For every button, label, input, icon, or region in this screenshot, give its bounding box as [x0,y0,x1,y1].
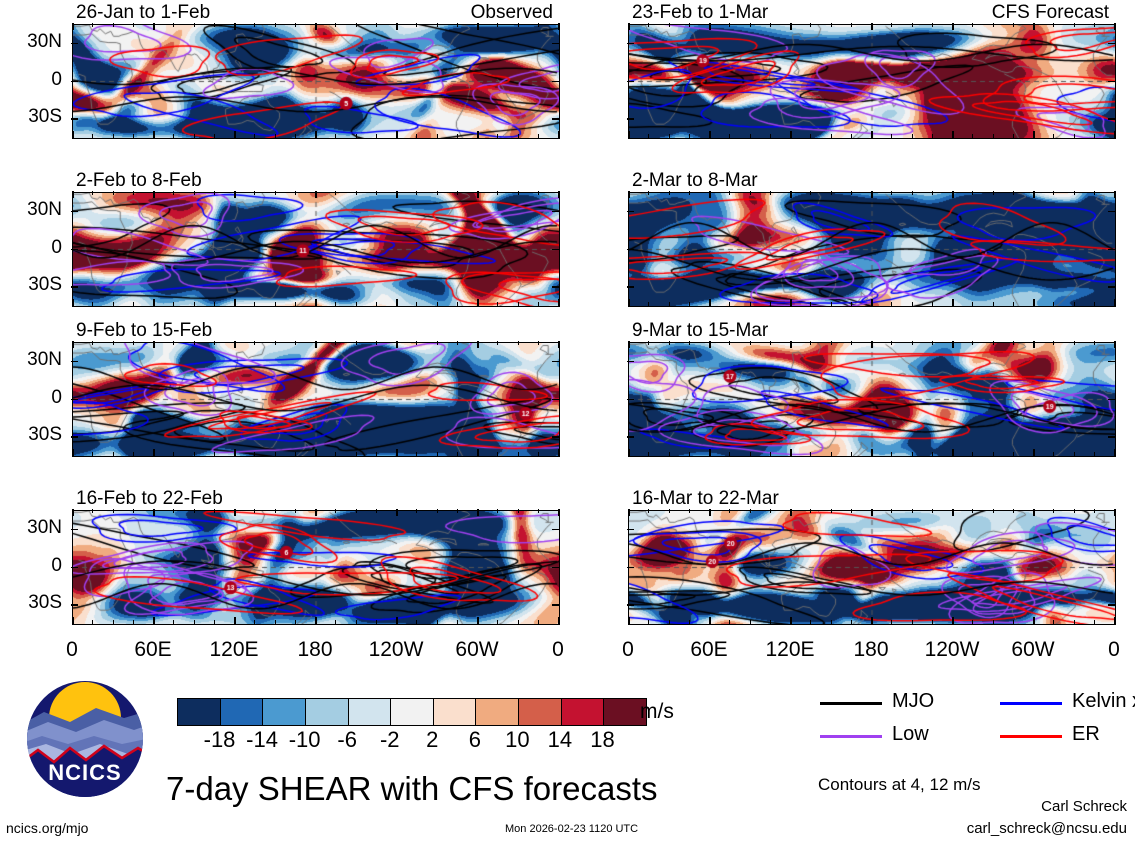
x-minor-tick [335,302,336,306]
x-minor-tick [133,452,134,456]
x-minor-tick [912,191,913,195]
x-minor-tick [396,509,397,513]
x-minor-tick [1114,23,1115,27]
x-minor-tick [173,134,174,138]
x-axis-tick-1-0: 0 [588,638,668,662]
x-minor-tick [72,302,73,306]
x-minor-tick [689,452,690,456]
x-minor-tick [214,23,215,27]
x-minor-tick [750,452,751,456]
x-minor-tick [851,134,852,138]
x-minor-tick [275,302,276,306]
colorbar-band-0 [178,699,221,725]
x-minor-tick [891,134,892,138]
x-minor-tick [628,341,629,345]
x-minor-tick [1013,23,1014,27]
panel-title-3: 2-Mar to 8-Mar [632,170,758,192]
x-minor-tick [810,302,811,306]
x-minor-tick [416,620,417,624]
x-minor-tick [113,452,114,456]
x-minor-tick [315,509,316,513]
x-minor-tick [194,23,195,27]
x-minor-tick [153,191,154,195]
y-tick [71,567,78,569]
x-minor-tick [912,452,913,456]
x-minor-tick [234,134,235,138]
x-minor-tick [497,341,498,345]
panel-title-0: 26-Jan to 1-Feb [76,2,210,24]
x-axis-tick-0-120W: 120W [356,638,436,662]
x-minor-tick [729,341,730,345]
x-minor-tick [952,302,953,306]
x-minor-tick [153,509,154,513]
x-minor-tick [538,23,539,27]
x-minor-tick [113,620,114,624]
x-minor-tick [376,341,377,345]
x-minor-tick [396,191,397,195]
y-tick [1108,211,1115,213]
map-panel-0 [72,24,560,139]
map-canvas-3 [629,193,1115,306]
x-minor-tick [396,620,397,624]
x-minor-tick [457,452,458,456]
x-minor-tick [295,452,296,456]
x-minor-tick [831,134,832,138]
y-axis-tick-0: 0 [0,555,62,577]
x-minor-tick [1094,341,1095,345]
x-minor-tick [871,134,872,138]
y-axis-tick-30N: 30N [0,349,62,371]
x-axis-tick-0-60E: 60E [113,638,193,662]
x-minor-tick [1114,341,1115,345]
y-tick [627,567,634,569]
y-axis-tick-0: 0 [0,237,62,259]
x-minor-tick [497,23,498,27]
x-minor-tick [993,620,994,624]
x-minor-tick [558,191,559,195]
x-minor-tick [750,191,751,195]
x-minor-tick [558,302,559,306]
x-minor-tick [1033,23,1034,27]
x-minor-tick [234,191,235,195]
x-minor-tick [648,191,649,195]
y-tick [1108,604,1115,606]
y-tick [552,81,559,83]
x-minor-tick [1013,191,1014,195]
y-axis-tick-30S: 30S [0,592,62,614]
x-minor-tick [770,509,771,513]
y-tick [552,436,559,438]
x-minor-tick [518,134,519,138]
x-minor-tick [275,509,276,513]
x-minor-tick [709,302,710,306]
x-minor-tick [871,509,872,513]
x-minor-tick [628,134,629,138]
map-canvas-1 [629,25,1115,138]
x-axis-tick-0-60W: 60W [437,638,517,662]
x-minor-tick [92,23,93,27]
x-minor-tick [153,341,154,345]
x-minor-tick [477,302,478,306]
x-minor-tick [295,23,296,27]
y-tick [1108,436,1115,438]
x-minor-tick [912,23,913,27]
x-axis-tick-0-180: 180 [275,638,355,662]
x-minor-tick [891,509,892,513]
colorbar-unit-label: m/s [640,700,674,724]
x-minor-tick [558,341,559,345]
x-minor-tick [92,620,93,624]
x-minor-tick [972,134,973,138]
x-minor-tick [254,134,255,138]
x-minor-tick [628,620,629,624]
x-minor-tick [1053,620,1054,624]
x-minor-tick [1094,23,1095,27]
x-minor-tick [477,341,478,345]
x-minor-tick [1114,620,1115,624]
x-minor-tick [416,302,417,306]
x-minor-tick [689,23,690,27]
x-minor-tick [932,191,933,195]
x-minor-tick [1114,191,1115,195]
x-minor-tick [477,23,478,27]
x-minor-tick [173,620,174,624]
x-minor-tick [173,191,174,195]
x-minor-tick [477,191,478,195]
x-minor-tick [851,23,852,27]
x-minor-tick [952,191,953,195]
map-canvas-2 [73,193,559,306]
x-minor-tick [396,341,397,345]
map-panel-5 [628,342,1116,457]
x-minor-tick [295,509,296,513]
y-tick [552,286,559,288]
x-minor-tick [153,452,154,456]
x-minor-tick [790,452,791,456]
x-minor-tick [477,134,478,138]
x-minor-tick [729,620,730,624]
colorbar-tick-18: 18 [572,727,632,753]
x-minor-tick [72,23,73,27]
x-axis-tick-0-120E: 120E [194,638,274,662]
x-minor-tick [952,620,953,624]
x-minor-tick [851,620,852,624]
y-tick [552,399,559,401]
x-minor-tick [790,302,791,306]
x-minor-tick [92,341,93,345]
x-minor-tick [1094,452,1095,456]
x-minor-tick [729,452,730,456]
x-minor-tick [993,452,994,456]
x-minor-tick [356,302,357,306]
x-minor-tick [1114,509,1115,513]
x-minor-tick [689,191,690,195]
x-axis-tick-0-0: 0 [518,638,598,662]
x-minor-tick [891,620,892,624]
y-axis-tick-30S: 30S [0,424,62,446]
x-minor-tick [72,341,73,345]
x-minor-tick [133,134,134,138]
x-minor-tick [376,452,377,456]
y-tick [627,436,634,438]
map-panel-2 [72,192,560,307]
x-minor-tick [113,134,114,138]
x-minor-tick [437,452,438,456]
x-minor-tick [750,302,751,306]
x-minor-tick [153,302,154,306]
y-axis-tick-30S: 30S [0,274,62,296]
x-minor-tick [952,134,953,138]
x-minor-tick [1033,191,1034,195]
x-minor-tick [335,23,336,27]
x-minor-tick [1074,134,1075,138]
x-minor-tick [113,341,114,345]
x-minor-tick [1074,452,1075,456]
site-url[interactable]: ncics.org/mjo [6,820,88,836]
map-canvas-5 [629,343,1115,456]
x-minor-tick [729,191,730,195]
x-minor-tick [558,509,559,513]
legend-line-er [1000,735,1062,738]
x-minor-tick [92,302,93,306]
x-minor-tick [790,134,791,138]
x-minor-tick [932,452,933,456]
x-minor-tick [790,620,791,624]
x-minor-tick [669,23,670,27]
x-minor-tick [295,341,296,345]
x-minor-tick [689,341,690,345]
x-minor-tick [750,23,751,27]
x-minor-tick [729,509,730,513]
x-minor-tick [153,620,154,624]
x-minor-tick [437,23,438,27]
author-name: Carl Schreck [1041,798,1127,815]
x-minor-tick [133,191,134,195]
x-minor-tick [628,452,629,456]
x-minor-tick [1094,509,1095,513]
x-minor-tick [92,452,93,456]
x-minor-tick [972,23,973,27]
x-minor-tick [153,134,154,138]
y-tick [552,361,559,363]
x-minor-tick [457,134,458,138]
x-minor-tick [709,191,710,195]
y-tick [552,249,559,251]
x-minor-tick [315,620,316,624]
y-tick [71,604,78,606]
x-minor-tick [851,509,852,513]
y-tick [71,211,78,213]
legend-label-low: Low [892,723,929,746]
x-axis-tick-1-0: 0 [1074,638,1135,662]
x-minor-tick [952,452,953,456]
x-minor-tick [254,23,255,27]
x-minor-tick [709,452,710,456]
panel-header-forecast: CFS Forecast [992,2,1109,24]
x-minor-tick [932,341,933,345]
x-minor-tick [972,341,973,345]
x-minor-tick [194,191,195,195]
x-minor-tick [831,191,832,195]
x-minor-tick [932,23,933,27]
x-minor-tick [689,134,690,138]
x-minor-tick [912,341,913,345]
colorbar-band-4 [349,699,392,725]
y-tick [1108,118,1115,120]
x-minor-tick [457,341,458,345]
x-minor-tick [790,191,791,195]
y-tick [552,604,559,606]
map-panel-3 [628,192,1116,307]
x-minor-tick [356,620,357,624]
x-minor-tick [335,509,336,513]
x-minor-tick [932,134,933,138]
y-axis-tick-30N: 30N [0,199,62,221]
x-minor-tick [396,134,397,138]
colorbar-band-3 [306,699,349,725]
x-minor-tick [851,452,852,456]
x-minor-tick [1074,23,1075,27]
x-minor-tick [669,620,670,624]
map-canvas-6 [73,511,559,624]
x-minor-tick [254,509,255,513]
x-minor-tick [315,191,316,195]
y-tick [552,118,559,120]
x-minor-tick [335,191,336,195]
y-tick [1108,567,1115,569]
x-minor-tick [1074,302,1075,306]
x-minor-tick [538,134,539,138]
x-minor-tick [709,23,710,27]
x-minor-tick [1094,620,1095,624]
x-minor-tick [1094,191,1095,195]
x-minor-tick [356,191,357,195]
x-minor-tick [214,509,215,513]
panel-title-6: 16-Feb to 22-Feb [76,488,223,510]
x-minor-tick [669,302,670,306]
x-minor-tick [113,302,114,306]
x-minor-tick [214,452,215,456]
x-minor-tick [497,191,498,195]
x-minor-tick [1033,452,1034,456]
x-minor-tick [912,509,913,513]
y-tick [1108,43,1115,45]
x-minor-tick [972,452,973,456]
x-minor-tick [1033,509,1034,513]
y-tick [1108,399,1115,401]
y-tick [71,249,78,251]
x-minor-tick [477,452,478,456]
x-minor-tick [457,191,458,195]
x-minor-tick [972,191,973,195]
x-minor-tick [335,452,336,456]
x-minor-tick [72,452,73,456]
y-tick [552,211,559,213]
x-minor-tick [497,452,498,456]
map-canvas-4 [73,343,559,456]
y-tick [627,399,634,401]
x-minor-tick [173,341,174,345]
x-minor-tick [1094,134,1095,138]
x-minor-tick [518,302,519,306]
logo-text: NCICS [24,760,146,786]
x-minor-tick [214,620,215,624]
x-minor-tick [356,134,357,138]
x-minor-tick [810,620,811,624]
x-minor-tick [133,620,134,624]
x-minor-tick [993,341,994,345]
x-minor-tick [234,341,235,345]
y-axis-tick-0: 0 [0,69,62,91]
x-minor-tick [628,191,629,195]
x-minor-tick [173,302,174,306]
x-minor-tick [315,452,316,456]
x-minor-tick [831,509,832,513]
x-minor-tick [790,23,791,27]
legend-label-kelvin-x2: Kelvin x2 [1072,690,1135,713]
x-minor-tick [558,134,559,138]
x-minor-tick [993,302,994,306]
x-minor-tick [770,620,771,624]
x-minor-tick [214,302,215,306]
x-minor-tick [831,620,832,624]
x-minor-tick [437,302,438,306]
x-minor-tick [133,23,134,27]
x-minor-tick [851,191,852,195]
x-minor-tick [871,23,872,27]
x-minor-tick [356,23,357,27]
x-minor-tick [254,341,255,345]
x-minor-tick [437,620,438,624]
x-minor-tick [770,23,771,27]
y-axis-tick-30N: 30N [0,31,62,53]
map-panel-7 [628,510,1116,625]
x-minor-tick [234,23,235,27]
x-minor-tick [437,509,438,513]
x-minor-tick [133,509,134,513]
x-minor-tick [518,23,519,27]
x-minor-tick [113,191,114,195]
x-minor-tick [993,23,994,27]
y-tick [627,118,634,120]
y-tick [1108,81,1115,83]
x-minor-tick [315,134,316,138]
colorbar-band-8 [519,699,562,725]
y-tick [552,567,559,569]
y-axis-tick-30S: 30S [0,106,62,128]
y-tick [71,118,78,120]
x-minor-tick [669,191,670,195]
x-minor-tick [972,302,973,306]
x-minor-tick [1013,302,1014,306]
x-minor-tick [1013,620,1014,624]
x-minor-tick [214,134,215,138]
x-minor-tick [810,23,811,27]
y-tick [627,529,634,531]
y-tick [1108,361,1115,363]
x-minor-tick [214,341,215,345]
x-minor-tick [648,452,649,456]
x-minor-tick [335,134,336,138]
y-tick [71,529,78,531]
x-minor-tick [477,620,478,624]
y-axis-tick-30N: 30N [0,517,62,539]
x-minor-tick [497,620,498,624]
y-tick [552,43,559,45]
x-minor-tick [72,134,73,138]
x-minor-tick [558,620,559,624]
x-minor-tick [335,620,336,624]
